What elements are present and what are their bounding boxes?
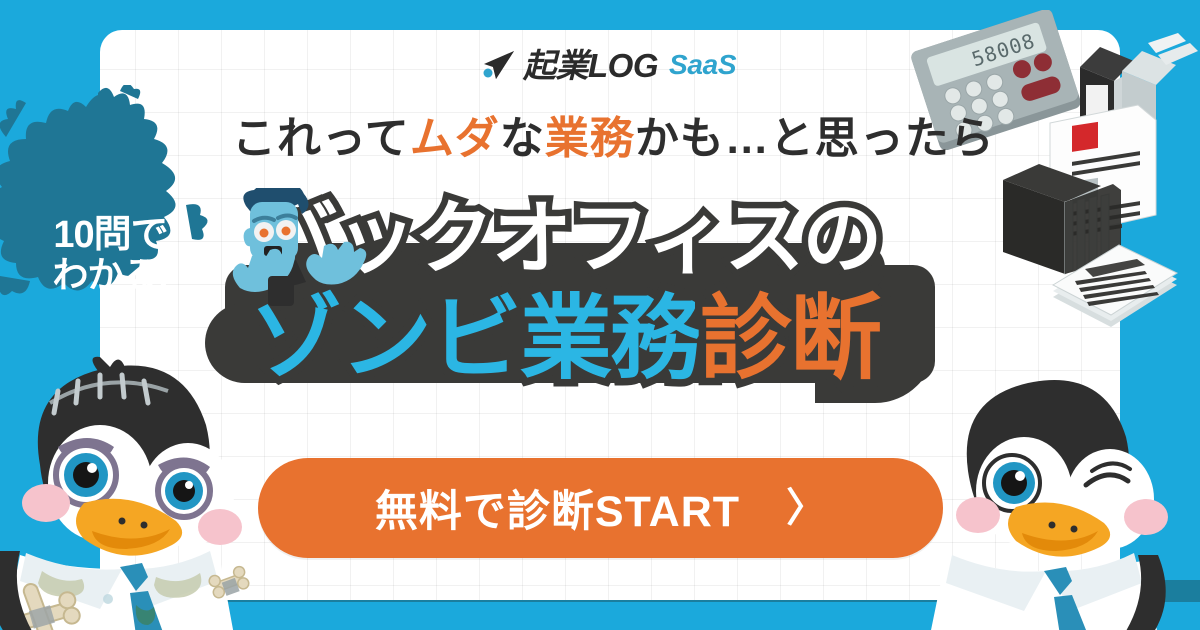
title-shindan: 診断 [700,288,880,390]
zombie-man-character [212,188,382,323]
logo-brand: 起業LOG [523,49,658,82]
badge-line-2: わかる! [28,256,193,295]
subtitle-part2: な [500,114,545,163]
zombie-penguin-character [0,355,300,630]
bone-icon [205,560,255,610]
hero-banner: 58008 [0,0,1200,630]
healthy-penguin-character [920,375,1200,630]
paper-plane-icon [480,48,516,82]
cta-label: 無料で診断START [375,477,740,539]
subtitle-highlight-gyomu: 業務 [545,114,635,163]
badge-line-1: 10問で [53,214,167,256]
subtitle-part1: これって [232,114,410,163]
subtitle-highlight-muda: ムダ [410,114,500,163]
site-logo[interactable]: 起業LOG SaaS [480,48,736,82]
subtitle-part3: かも…と思ったら [635,114,995,163]
badge-splat: 10問で わかる! [0,85,220,310]
chevron-right-icon: 〉 [786,488,826,528]
subtitle: これってムダな業務かも…と思ったら [232,115,972,163]
logo-product: SaaS [669,51,736,79]
badge-text: 10問で わかる! [28,215,193,295]
cta-start-button[interactable]: 無料で診断START 〉 [258,458,943,558]
